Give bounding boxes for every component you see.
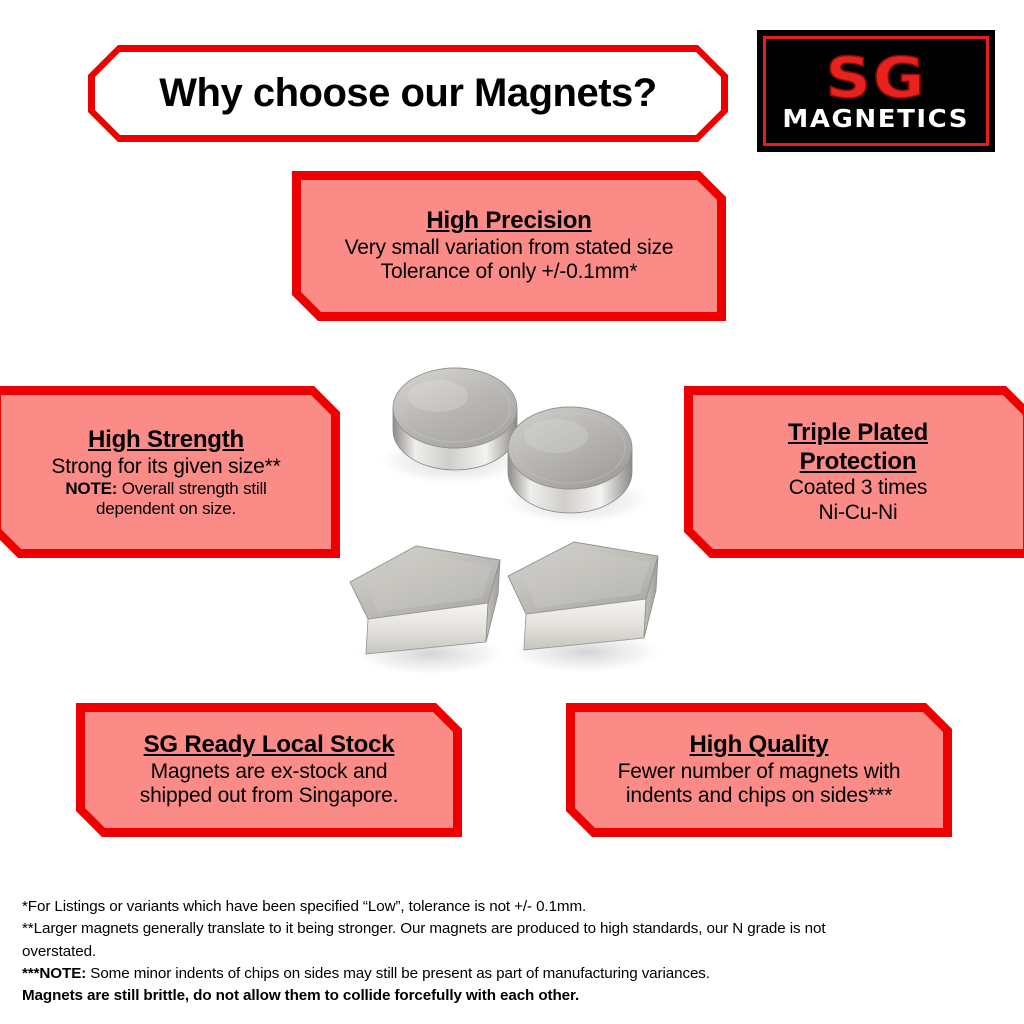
callout-high-quality-heading: High Quality xyxy=(690,731,829,759)
callout-high-strength-note-line-1: NOTE: Overall strength still xyxy=(65,479,266,499)
footnote-line-4-label: ***NOTE: xyxy=(22,965,86,982)
footnote-line-1: *For Listings or variants which have bee… xyxy=(22,896,1007,918)
callout-sg-ready-local-stock-inner: SG Ready Local Stock Magnets are ex-stoc… xyxy=(85,712,453,828)
footnote-line-3: overstated. xyxy=(22,941,1007,963)
callout-high-precision-line-1: Very small variation from stated size xyxy=(345,236,674,260)
logo-brand-text: SG xyxy=(825,53,926,105)
callout-high-precision-heading: High Precision xyxy=(426,207,591,235)
page-title-banner: Why choose our Magnets? xyxy=(88,45,728,142)
callout-high-strength-note-text: Overall strength still xyxy=(117,479,266,498)
callout-sg-ready-local-stock-heading: SG Ready Local Stock xyxy=(144,731,395,759)
callout-triple-plated-protection: Triple Plated Protection Coated 3 times … xyxy=(684,386,1024,558)
callout-triple-plated-line-1: Coated 3 times xyxy=(789,476,927,500)
footnote-line-5: Magnets are still brittle, do not allow … xyxy=(22,985,1007,1007)
callout-triple-plated-protection-inner: Triple Plated Protection Coated 3 times … xyxy=(693,395,1023,549)
callout-triple-plated-heading-line-1: Triple Plated xyxy=(788,419,928,447)
page-title: Why choose our Magnets? xyxy=(159,71,656,116)
callout-high-precision: High Precision Very small variation from… xyxy=(292,171,726,321)
callout-high-strength-line-1: Strong for its given size** xyxy=(51,455,280,479)
magnet-product-photo xyxy=(338,332,690,680)
sg-magnetics-logo: SG MAGNETICS xyxy=(757,30,995,152)
callout-high-quality-line-1: Fewer number of magnets with xyxy=(618,760,901,784)
footnote-line-2: **Larger magnets generally translate to … xyxy=(22,918,1007,940)
callout-sg-ready-local-stock-line-2: shipped out from Singapore. xyxy=(140,784,398,808)
callout-sg-ready-local-stock: SG Ready Local Stock Magnets are ex-stoc… xyxy=(76,703,462,837)
callout-high-precision-inner: High Precision Very small variation from… xyxy=(301,180,717,312)
callout-triple-plated-heading-line-2: Protection xyxy=(800,448,917,476)
block-magnet-left xyxy=(350,546,500,654)
callout-high-strength-note-line-2: dependent on size. xyxy=(96,499,236,519)
callout-high-precision-line-2: Tolerance of only +/-0.1mm* xyxy=(381,260,638,284)
disc-magnet-right xyxy=(508,407,632,513)
footnotes: *For Listings or variants which have bee… xyxy=(22,896,1007,1008)
disc-magnet-left xyxy=(393,368,517,470)
magnet-product-illustration xyxy=(338,332,690,680)
callout-sg-ready-local-stock-line-1: Magnets are ex-stock and xyxy=(151,760,388,784)
footnote-line-4: ***NOTE: Some minor indents of chips on … xyxy=(22,963,1007,985)
callout-high-quality-line-2: indents and chips on sides*** xyxy=(626,784,892,808)
logo-subtitle-text: MAGNETICS xyxy=(783,106,970,131)
logo-frame: SG MAGNETICS xyxy=(763,36,989,146)
footnote-line-4-text: Some minor indents of chips on sides may… xyxy=(86,965,710,982)
callout-triple-plated-line-2: Ni-Cu-Ni xyxy=(819,501,898,525)
callout-high-strength-heading: High Strength xyxy=(88,426,244,454)
callout-high-strength-inner: High Strength Strong for its given size*… xyxy=(1,395,331,549)
callout-high-quality: High Quality Fewer number of magnets wit… xyxy=(566,703,952,837)
page-title-banner-inner: Why choose our Magnets? xyxy=(95,52,721,135)
block-magnet-right xyxy=(508,542,658,650)
callout-high-strength-note-label: NOTE: xyxy=(65,479,117,498)
callout-high-strength: High Strength Strong for its given size*… xyxy=(0,386,340,558)
callout-high-quality-inner: High Quality Fewer number of magnets wit… xyxy=(575,712,943,828)
